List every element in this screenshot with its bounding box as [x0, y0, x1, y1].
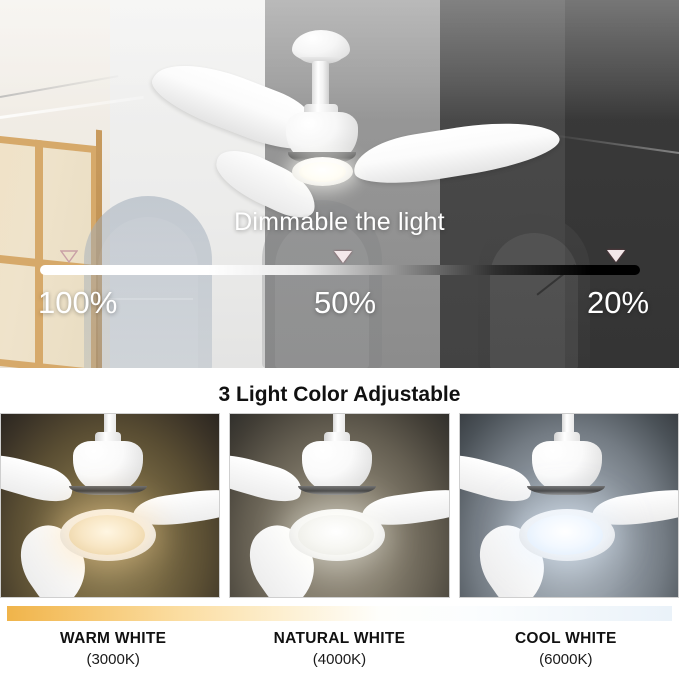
brightness-slider-track[interactable] — [40, 265, 640, 275]
color-mode-name: NATURAL WHITE — [226, 630, 452, 648]
color-mode-name: WARM WHITE — [0, 630, 226, 648]
fan-downrod — [312, 61, 329, 108]
mini-fan-blade-left — [459, 447, 539, 508]
mini-fan-trim-band — [298, 486, 376, 495]
brightness-marker-20[interactable] — [607, 250, 625, 262]
dimming-scene: Dimmable the light 100% 50% 20% — [0, 0, 679, 368]
mini-fan-blade-left — [229, 447, 309, 508]
color-mode-warm-white: WARM WHITE (3000K) — [0, 630, 226, 668]
mini-fan-warm — [1, 414, 219, 597]
brightness-label-100: 100% — [38, 285, 117, 321]
mini-fan-downrod — [104, 413, 116, 434]
color-panel-cool-white[interactable] — [459, 413, 679, 598]
color-panel-natural-white[interactable] — [229, 413, 449, 598]
mini-fan-blade-left — [0, 447, 80, 508]
mini-fan-lens-natural — [298, 515, 374, 555]
color-mode-kelvin: (3000K) — [0, 651, 226, 668]
mini-fan-trim-band — [527, 486, 605, 495]
color-temperature-section: 3 Light Color Adjustable — [0, 368, 679, 673]
mini-fan-lens-cool — [527, 515, 603, 555]
color-mode-natural-white: NATURAL WHITE (4000K) — [226, 630, 452, 668]
mini-fan-downrod — [333, 413, 345, 434]
color-mode-kelvin: (4000K) — [226, 651, 452, 668]
mini-fan-cool — [460, 414, 678, 597]
fan-blade-right — [347, 112, 565, 191]
mini-fan-lens-warm — [69, 515, 145, 555]
color-temperature-gradient-bar — [7, 606, 672, 621]
color-mode-kelvin: (6000K) — [453, 651, 679, 668]
color-panel-row — [0, 413, 679, 598]
mini-fan-natural — [230, 414, 448, 597]
fan-led-lens — [299, 162, 346, 182]
brightness-label-50: 50% — [314, 285, 376, 321]
dimming-caption: Dimmable the light — [0, 208, 679, 237]
color-panel-warm-white[interactable] — [0, 413, 220, 598]
brightness-marker-100[interactable] — [60, 250, 78, 263]
product-infographic: Dimmable the light 100% 50% 20% 3 Light … — [0, 0, 679, 673]
color-mode-name: COOL WHITE — [453, 630, 679, 648]
section-title: 3 Light Color Adjustable — [0, 383, 679, 407]
color-mode-labels: WARM WHITE (3000K) NATURAL WHITE (4000K)… — [0, 630, 679, 668]
mini-fan-trim-band — [69, 486, 147, 495]
brightness-label-20: 20% — [587, 285, 649, 321]
brightness-marker-50[interactable] — [334, 251, 352, 263]
mini-fan-downrod — [562, 413, 574, 434]
color-mode-cool-white: COOL WHITE (6000K) — [453, 630, 679, 668]
